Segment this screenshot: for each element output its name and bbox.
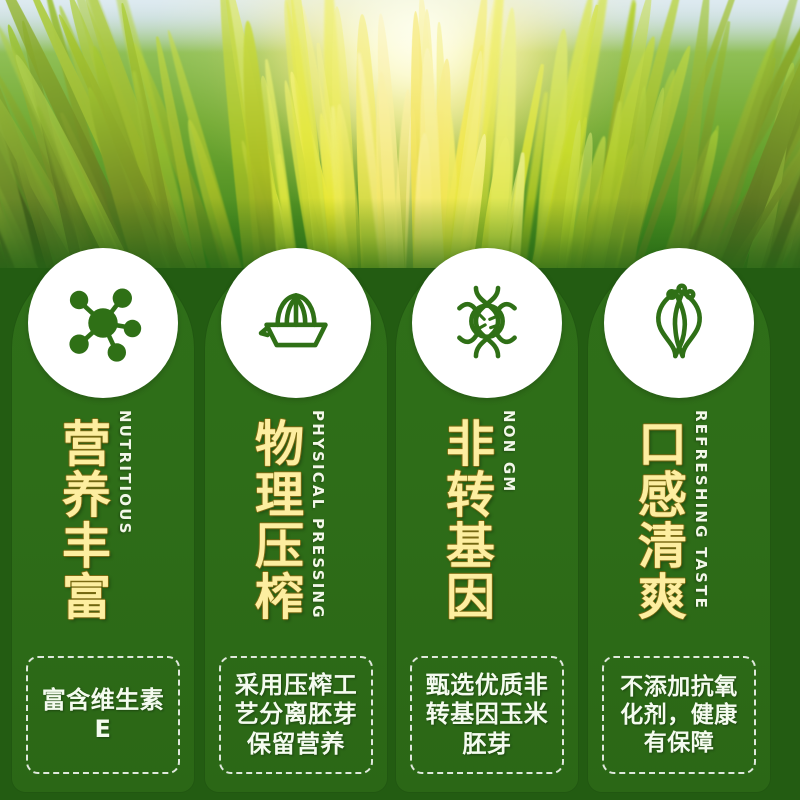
feature-icon-circle (412, 248, 562, 398)
two-leaves-dewdrops-icon (633, 277, 725, 369)
feature-panel-nutritious[interactable]: 营养丰富 NUTRITIOUS 富含维生素E (12, 258, 194, 792)
feature-title-cn: 营养丰富 (42, 418, 108, 622)
feature-title-en: PHYSICAL PRESSING (309, 410, 327, 620)
feature-icon-circle (604, 248, 754, 398)
feature-description-text: 不添加抗氧化剂，健康有保障 (610, 673, 748, 757)
citrus-press-juicer-icon (250, 277, 342, 369)
feature-description-text: 采用压榨工艺分离胚芽保留营养 (227, 671, 365, 759)
feature-description-box: 富含维生素E (26, 656, 180, 774)
feature-panel-row: 营养丰富 NUTRITIOUS 富含维生素E (0, 0, 800, 800)
feature-icon-circle (221, 248, 371, 398)
feature-description-box: 不添加抗氧化剂，健康有保障 (602, 656, 756, 774)
feature-title-cn: 物理压榨 (235, 418, 301, 622)
feature-panel-refreshing-taste[interactable]: 口感清爽 REFRESHING TASTE 不添加抗氧化剂，健康有保障 (588, 258, 770, 792)
feature-description-text: 富含维生素E (34, 686, 172, 745)
feature-description-box: 采用压榨工艺分离胚芽保留营养 (219, 656, 373, 774)
feature-description-text: 甄选优质非转基因玉米胚芽 (418, 671, 556, 759)
molecule-nutrient-icon (57, 277, 149, 369)
feature-title-cn: 口感清爽 (618, 418, 684, 622)
feature-icon-circle (28, 248, 178, 398)
feature-title-en: NON GM (500, 410, 518, 494)
dna-helix-icon (441, 277, 533, 369)
feature-panel-non-gm[interactable]: 非转基因 NON GM 甄选优质非转基因玉米胚芽 (396, 258, 578, 792)
feature-title-en: REFRESHING TASTE (692, 410, 710, 610)
feature-panel-physical-pressing[interactable]: 物理压榨 PHYSICAL PRESSING 采用压榨工艺分离胚芽保留营养 (205, 258, 387, 792)
feature-title-cn: 非转基因 (426, 418, 492, 622)
feature-description-box: 甄选优质非转基因玉米胚芽 (410, 656, 564, 774)
feature-title-en: NUTRITIOUS (116, 410, 134, 536)
product-feature-poster: 营养丰富 NUTRITIOUS 富含维生素E (0, 0, 800, 800)
